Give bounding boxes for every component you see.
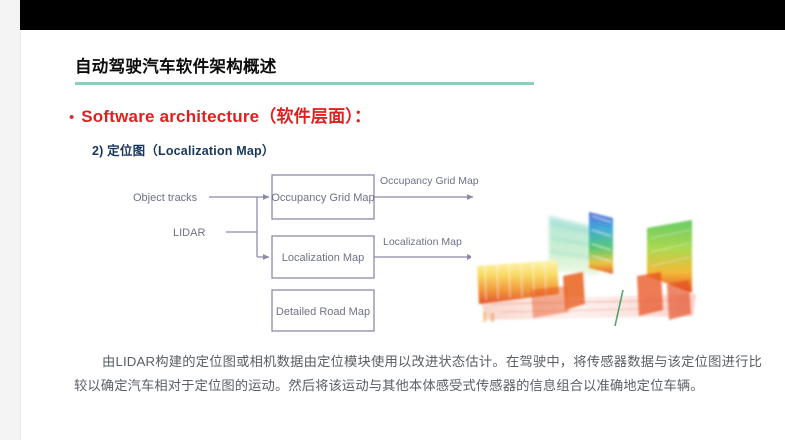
slide-canvas: 自动驾驶汽车软件架构概述 • Software architecture（软件层… [21,30,785,440]
bullet-heading: • Software architecture（软件层面）： [69,102,371,127]
title-divider [75,82,534,85]
diagram-box-label-localization-map: Localization Map [282,252,365,264]
bullet-dot-icon: • [69,110,74,125]
diagram-box-label-occupancy-grid-map: Occupancy Grid Map [271,192,374,204]
diagram-box-label-detailed-road-map: Detailed Road Map [276,306,370,318]
diagram-input-label-object-tracks: Object tracks [133,192,198,204]
sub-heading: 2) 定位图（Localization Map） [92,140,275,159]
viewer-top-bar [20,0,785,30]
point-cloud-svg [471,198,711,343]
diagram-svg: Object tracks LIDAR Occupancy Grid Map L… [131,170,501,335]
diagram-output-label-localization-map: Localization Map [383,236,462,248]
page-title: 自动驾驶汽车软件架构概述 [75,53,277,77]
bullet-heading-label: Software architecture（软件层面）： [81,102,371,127]
viewer-left-gutter [0,0,21,440]
diagram-output-label-occupancy-grid-map: Occupancy Grid Map [380,175,479,187]
diagram-input-label-lidar: LIDAR [173,227,205,239]
body-paragraph: 由LIDAR构建的定位图或相机数据由定位模块使用以改进状态估计。在驾驶中，将传感… [74,350,762,398]
lidar-point-cloud-image [471,198,711,343]
architecture-diagram: Object tracks LIDAR Occupancy Grid Map L… [131,170,501,335]
slide-viewer: 自动驾驶汽车软件架构概述 • Software architecture（软件层… [0,0,785,440]
